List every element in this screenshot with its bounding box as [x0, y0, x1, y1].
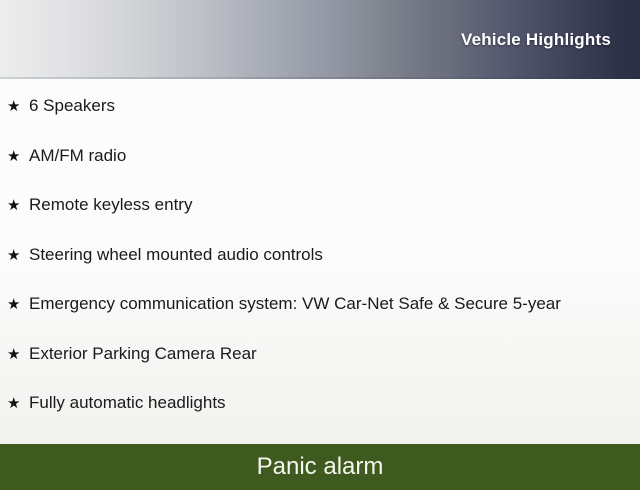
footer-label: Panic alarm: [257, 455, 384, 479]
vehicle-highlights-panel: Vehicle Highlights ★ 6 Speakers ★ AM/FM …: [0, 0, 640, 480]
star-icon: ★: [7, 248, 29, 263]
list-item: ★ AM/FM radio: [0, 147, 640, 197]
list-item-label: Remote keyless entry: [29, 196, 192, 213]
list-item-label: Exterior Parking Camera Rear: [29, 345, 257, 362]
star-icon: ★: [7, 396, 29, 411]
list-item-label: Emergency communication system: VW Car-N…: [29, 295, 561, 312]
panel-header: Vehicle Highlights: [0, 0, 640, 79]
star-icon: ★: [7, 99, 29, 114]
star-icon: ★: [7, 347, 29, 362]
star-icon: ★: [7, 198, 29, 213]
list-item: ★ 6 Speakers: [0, 97, 640, 147]
list-item: ★ Fully automatic headlights: [0, 394, 640, 444]
list-item-label: Steering wheel mounted audio controls: [29, 246, 323, 263]
list-item: ★ Exterior Parking Camera Rear: [0, 345, 640, 395]
list-item: ★ Emergency communication system: VW Car…: [0, 295, 640, 345]
list-item: ★ Steering wheel mounted audio controls: [0, 246, 640, 296]
star-icon: ★: [7, 297, 29, 312]
list-item-label: Fully automatic headlights: [29, 394, 226, 411]
vehicle-highlights-list: ★ 6 Speakers ★ AM/FM radio ★ Remote keyl…: [0, 79, 640, 444]
list-item-label: AM/FM radio: [29, 147, 126, 164]
page-title: Vehicle Highlights: [461, 30, 611, 50]
star-icon: ★: [7, 149, 29, 164]
panel-footer: Panic alarm: [0, 444, 640, 490]
list-item-label: 6 Speakers: [29, 97, 115, 114]
list-item: ★ Remote keyless entry: [0, 196, 640, 246]
